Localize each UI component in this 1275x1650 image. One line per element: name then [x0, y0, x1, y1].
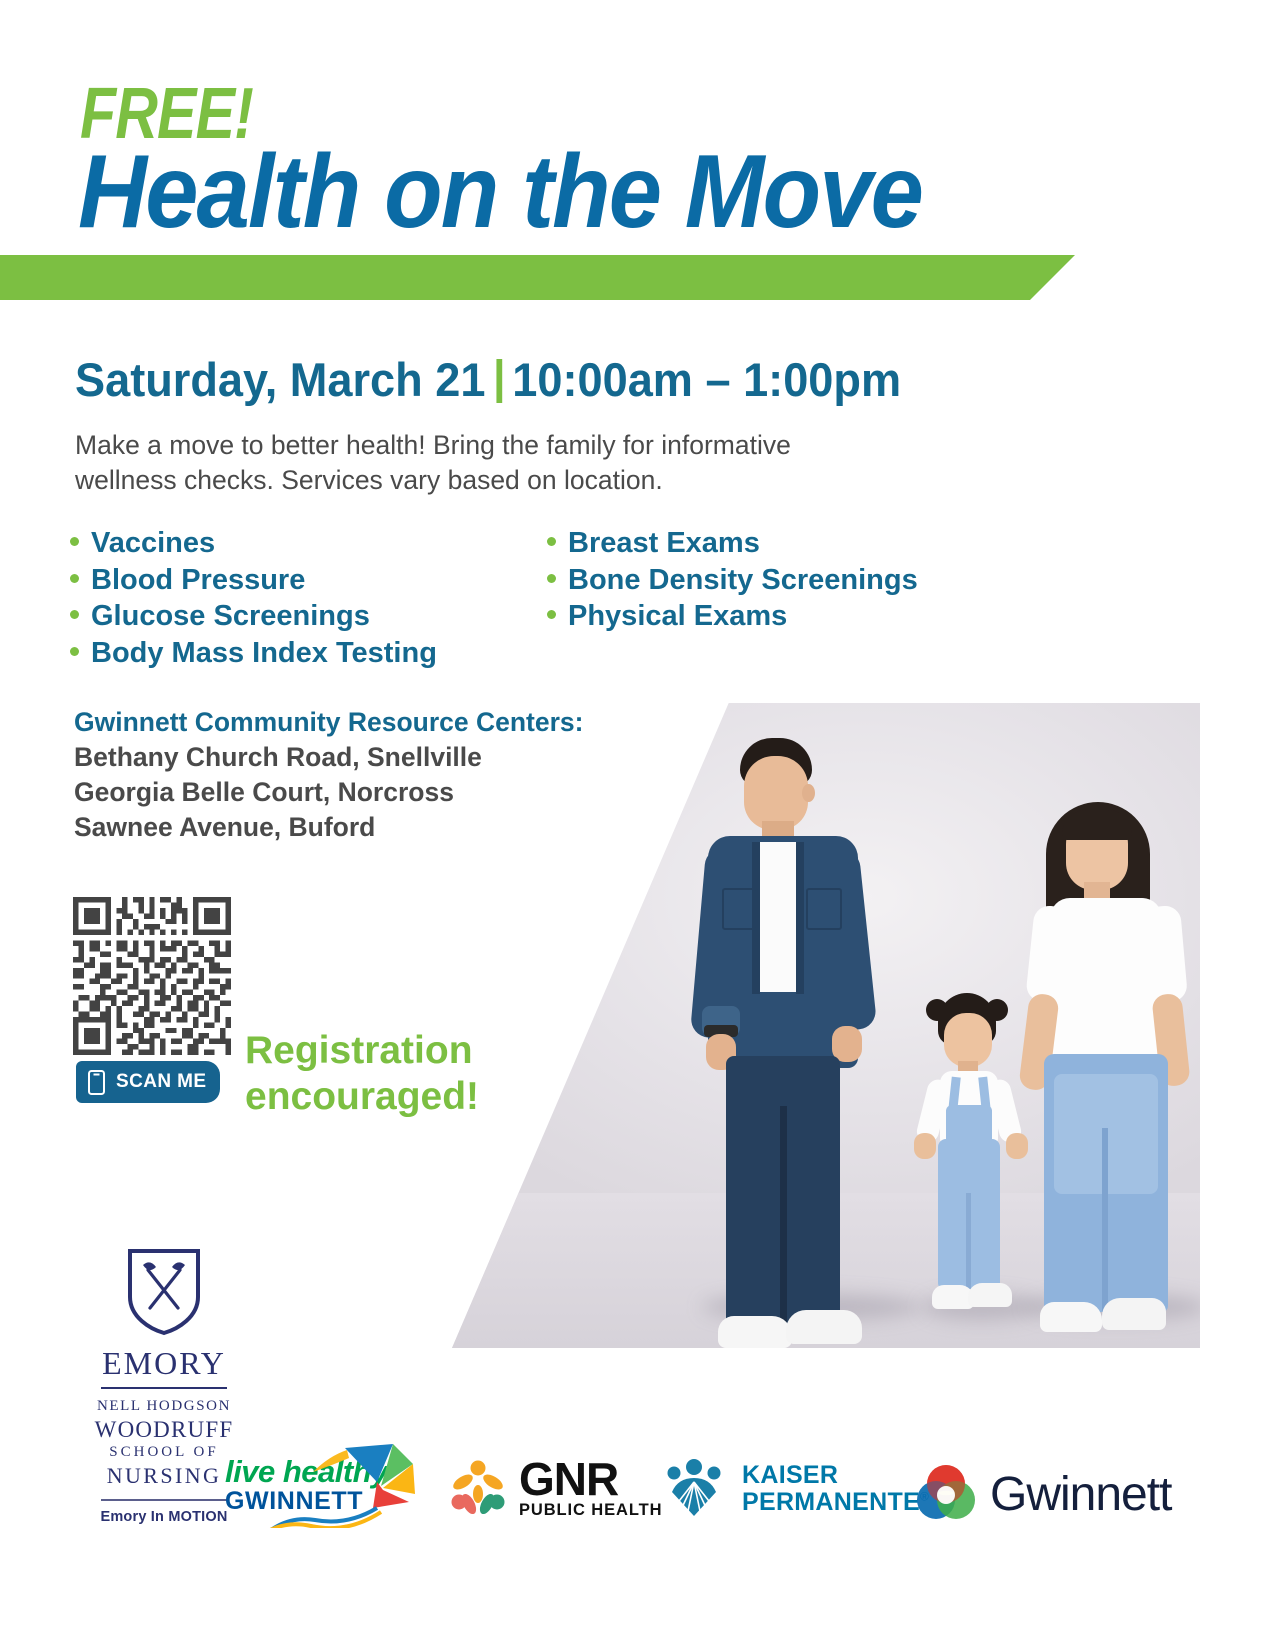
emory-line-1: NELL HODGSON — [74, 1397, 254, 1416]
service-label: Body Mass Index Testing — [91, 635, 437, 672]
gnr-people-icon — [447, 1458, 509, 1520]
bullet-dot-icon — [547, 537, 556, 546]
registration-note: Registration encouraged! — [245, 1028, 479, 1120]
sponsor-label-line-2: PUBLIC HEALTH — [519, 1501, 662, 1520]
event-datetime: Saturday, March 2110:00am – 1:00pm — [75, 352, 901, 407]
emory-shield-icon — [126, 1248, 202, 1336]
service-label: Bone Density Screenings — [568, 562, 918, 599]
green-accent-bar — [0, 255, 1075, 300]
service-label: Vaccines — [91, 525, 215, 562]
page-title: Health on the Move — [78, 140, 922, 244]
flyer-header: FREE! Health on the Move — [0, 0, 1275, 310]
qr-block: SCAN ME — [73, 897, 231, 1103]
phone-icon — [88, 1070, 105, 1095]
gwinnett-circles-icon — [915, 1464, 977, 1526]
sponsor-kaiser-permanente: KAISER PERMANENTE® — [657, 1458, 929, 1520]
registration-line-1: Registration — [245, 1028, 479, 1074]
service-item: Bone Density Screenings — [547, 562, 918, 599]
service-label: Glucose Screenings — [91, 598, 370, 635]
bullet-dot-icon — [70, 574, 79, 583]
sponsor-label-line-2: PERMANENTE® — [742, 1489, 929, 1516]
date-time-separator — [496, 359, 502, 403]
service-item: Breast Exams — [547, 525, 918, 562]
service-item: Glucose Screenings — [70, 598, 437, 635]
sponsor-label-line-1: GNR — [519, 1458, 662, 1500]
sponsor-label-line-1: Gwinnett — [990, 1471, 1171, 1519]
service-label: Breast Exams — [568, 525, 760, 562]
location-item: Georgia Belle Court, Norcross — [74, 775, 583, 810]
bullet-dot-icon — [70, 537, 79, 546]
sponsor-live-healthy-gwinnett: live healthy GWINNETT — [225, 1456, 415, 1514]
bullet-dot-icon — [70, 610, 79, 619]
service-item: Body Mass Index Testing — [70, 635, 437, 672]
kite-icon — [227, 1442, 423, 1528]
locations-heading: Gwinnett Community Resource Centers: — [74, 705, 583, 740]
location-item: Bethany Church Road, Snellville — [74, 740, 583, 775]
bullet-dot-icon — [547, 574, 556, 583]
services-column-right: Breast Exams Bone Density Screenings Phy… — [547, 525, 918, 635]
service-label: Blood Pressure — [91, 562, 305, 599]
sponsor-logos-row: live healthy GWINNETT GNR PUBLIC HEALTH — [225, 1440, 1215, 1560]
bullet-dot-icon — [547, 610, 556, 619]
qr-code-icon[interactable] — [73, 897, 231, 1055]
services-column-left: Vaccines Blood Pressure Glucose Screenin… — [70, 525, 437, 671]
scan-me-label: SCAN ME — [116, 1071, 206, 1093]
sponsor-gnr-public-health: GNR PUBLIC HEALTH — [447, 1458, 662, 1520]
sponsor-label-line-1: KAISER — [742, 1462, 929, 1489]
emory-wordmark: EMORY — [74, 1347, 254, 1379]
person-mother — [1014, 798, 1200, 1343]
service-label: Physical Exams — [568, 598, 787, 635]
bullet-dot-icon — [70, 647, 79, 656]
service-item: Physical Exams — [547, 598, 918, 635]
emory-divider-2 — [101, 1499, 227, 1501]
service-item: Blood Pressure — [70, 562, 437, 599]
sponsor-gwinnett-county: Gwinnett — [915, 1464, 1171, 1526]
event-date: Saturday, March 21 — [75, 353, 485, 406]
emory-divider — [101, 1387, 227, 1389]
service-item: Vaccines — [70, 525, 437, 562]
scan-me-badge[interactable]: SCAN ME — [76, 1061, 220, 1103]
event-time: 10:00am – 1:00pm — [512, 353, 901, 406]
person-father — [682, 738, 912, 1338]
registration-line-2: encouraged! — [245, 1074, 479, 1120]
event-description: Make a move to better health! Bring the … — [75, 428, 895, 498]
kaiser-fan-icon — [657, 1458, 731, 1520]
location-item: Sawnee Avenue, Buford — [74, 810, 583, 845]
locations-block: Gwinnett Community Resource Centers: Bet… — [74, 705, 583, 845]
